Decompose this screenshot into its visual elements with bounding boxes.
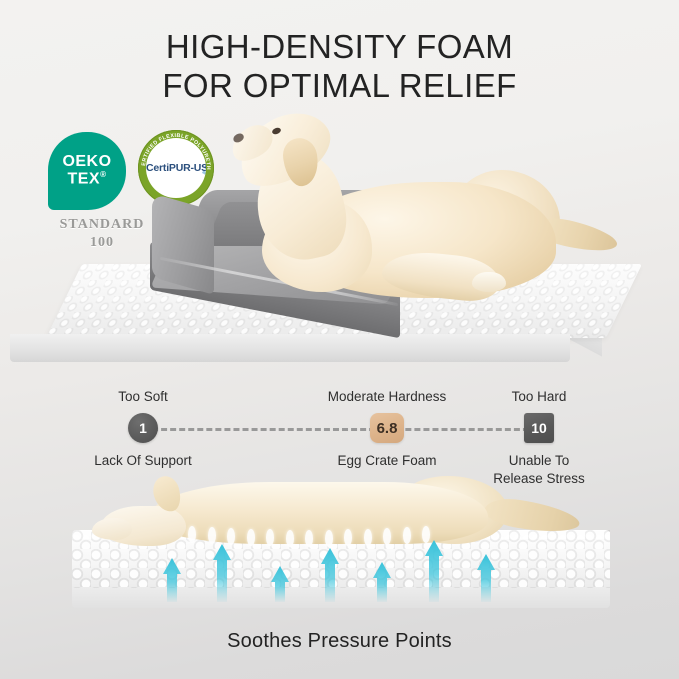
hero-product-image	[0, 96, 679, 374]
pressure-arrow-icon	[213, 544, 231, 602]
page-title: HIGH-DENSITY FOAM FOR OPTIMAL RELIEF	[0, 28, 679, 106]
scale-node-too-hard: Too Hard 10 Unable To Release Stress	[524, 413, 554, 443]
scale-node-1-bottom-label: Lack Of Support	[94, 452, 192, 470]
scale-node-2-bottom-line-1: Egg Crate Foam	[337, 453, 436, 468]
pressure-arrow-icon	[163, 558, 181, 602]
scale-node-too-soft: Too Soft 1 Lack Of Support	[128, 413, 158, 443]
scale-node-2-top-label: Moderate Hardness	[328, 389, 447, 404]
scale-node-1-bottom-line-1: Lack Of Support	[94, 453, 192, 468]
infographic-page: HIGH-DENSITY FOAM FOR OPTIMAL RELIEF OEK…	[0, 0, 679, 679]
scale-marker-3: 10	[524, 413, 554, 443]
bed-side-bolster	[152, 193, 214, 295]
pressure-arrow-icon	[373, 562, 391, 602]
dog-photo-upper	[232, 104, 592, 332]
pressure-arrow-icon	[425, 540, 443, 602]
slab-front-face	[10, 334, 570, 362]
scale-node-3-bottom-line-1: Unable To	[509, 453, 570, 468]
pressure-arrows	[0, 470, 679, 635]
scale-node-3-top-label: Too Hard	[512, 389, 567, 404]
scale-node-moderate: Moderate Hardness 6.8 Egg Crate Foam	[370, 413, 404, 443]
title-line-1: HIGH-DENSITY FOAM	[0, 28, 679, 67]
scale-node-2-bottom-label: Egg Crate Foam	[337, 452, 436, 470]
scale-marker-2: 6.8	[370, 413, 404, 443]
pressure-arrow-icon	[477, 554, 495, 602]
bottom-caption: Soothes Pressure Points	[0, 630, 679, 653]
scale-node-1-top-label: Too Soft	[118, 389, 168, 404]
pressure-arrow-icon	[321, 548, 339, 602]
scale-marker-1: 1	[128, 413, 158, 443]
dog-paw	[472, 272, 506, 292]
hardness-scale: Too Soft 1 Lack Of Support Moderate Hard…	[0, 378, 679, 472]
pressure-point-illustration	[0, 470, 679, 635]
scale-dashed-line	[143, 428, 538, 431]
pressure-arrow-icon	[271, 566, 289, 602]
